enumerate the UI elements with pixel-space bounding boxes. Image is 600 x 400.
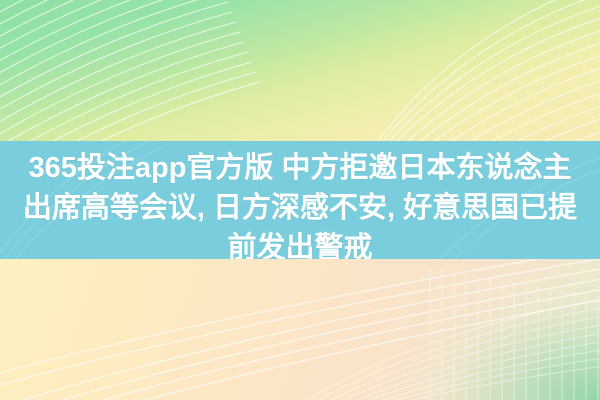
headline-band: 365投注app官方版 中方拒邀日本东说念主出席高等会议, 日方深感不安, 好意… — [0, 141, 600, 259]
top-gradient-background — [0, 0, 600, 141]
promo-banner: 365投注app官方版 中方拒邀日本东说念主出席高等会议, 日方深感不安, 好意… — [0, 0, 600, 400]
bottom-right-green-wash — [390, 280, 600, 400]
bottom-gradient-background — [0, 259, 600, 400]
banner-headline: 365投注app官方版 中方拒邀日本东说念主出席高等会议, 日方深感不安, 好意… — [0, 148, 600, 259]
